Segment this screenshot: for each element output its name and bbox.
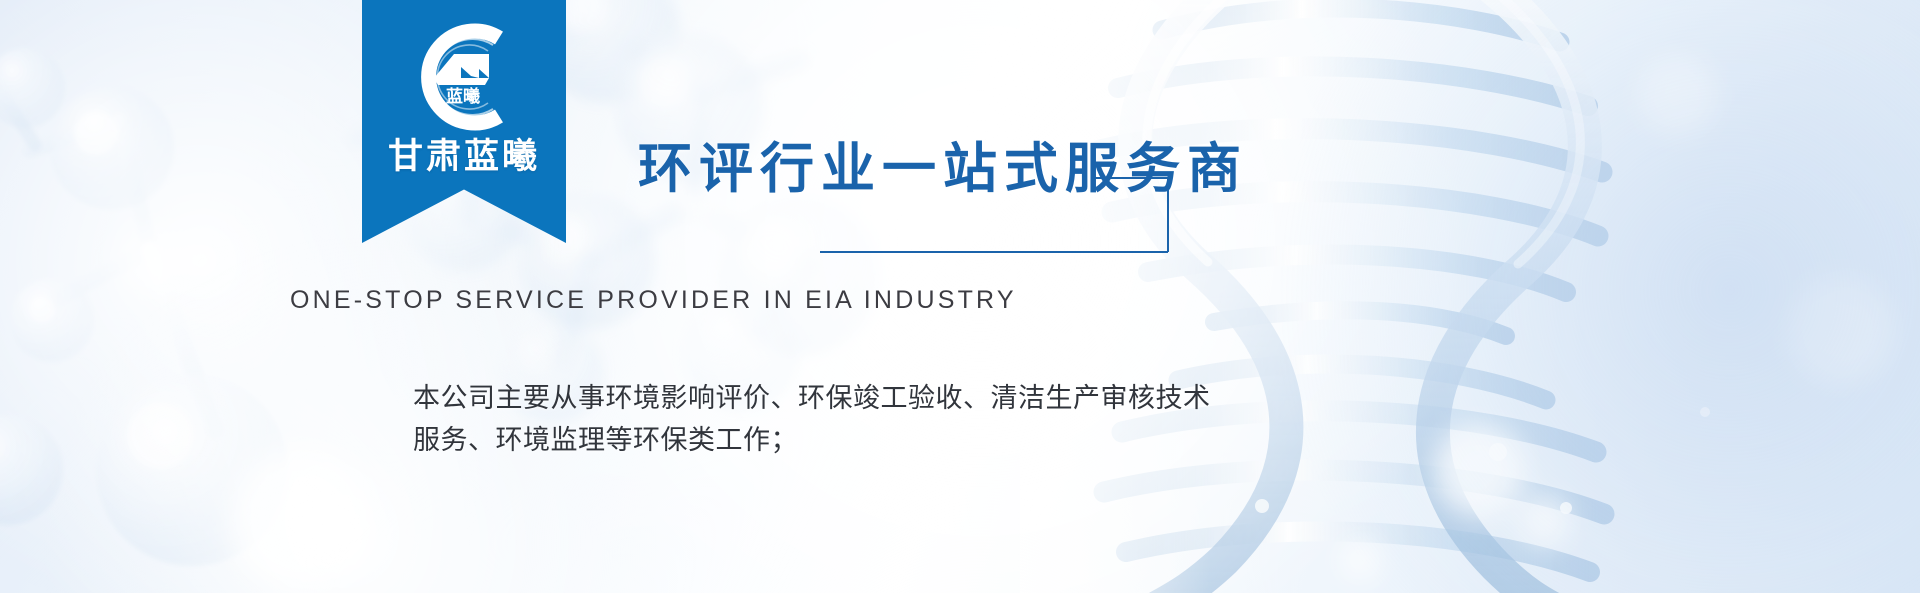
dna-helix-right <box>1100 0 1604 593</box>
page-subtitle: ONE-STOP SERVICE PROVIDER IN EIA INDUSTR… <box>290 286 1017 315</box>
brand-badge-ribbon: 蓝曦 甘肃蓝曦 <box>362 0 566 243</box>
badge-company-name: 甘肃蓝曦 <box>362 128 566 179</box>
subtitle-rule <box>820 251 1168 253</box>
emblem-inner-text: 蓝曦 <box>446 86 480 107</box>
description-line-2: 服务、环境监理等环保类工作； <box>413 420 1211 462</box>
bokeh-small <box>1255 407 1710 514</box>
lanxi-circular-emblem: 蓝曦 <box>401 14 527 140</box>
molecule-left <box>0 48 288 566</box>
headline-connector-bracket <box>820 170 1180 260</box>
promo-banner: 蓝曦 甘肃蓝曦 环评行业一站式服务商 ONE-STOP SERVICE PROV… <box>0 0 1920 593</box>
description-line-1: 本公司主要从事环境影响评价、环保竣工验收、清洁生产审核技术 <box>413 378 1211 420</box>
description-paragraph: 本公司主要从事环境影响评价、环保竣工验收、清洁生产审核技术 服务、环境监理等环保… <box>413 378 1211 462</box>
light-wash-right <box>1280 0 1920 593</box>
